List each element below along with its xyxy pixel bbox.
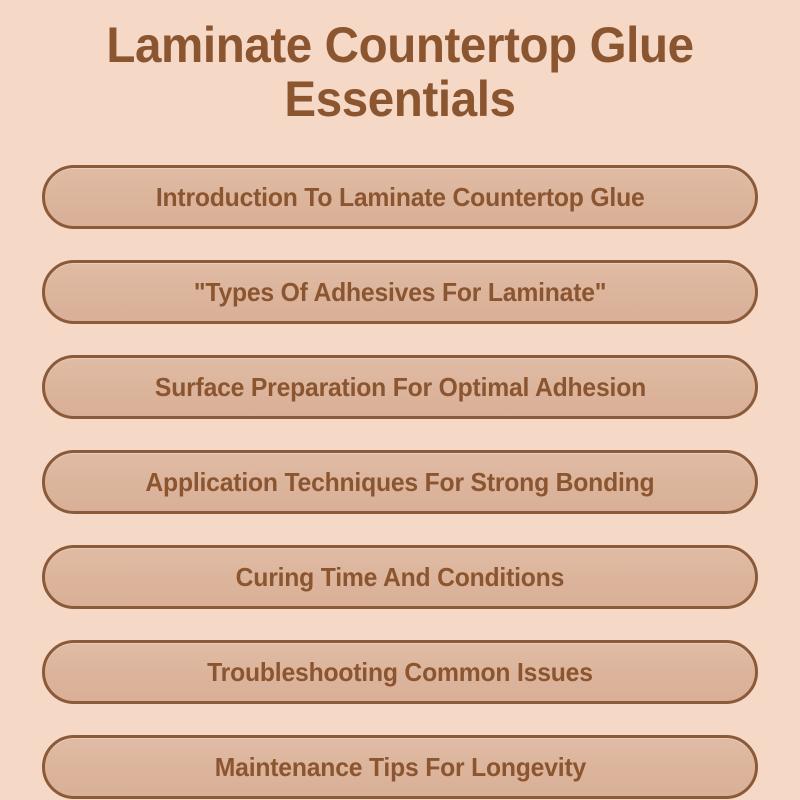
- section-pill-label: Curing Time And Conditions: [236, 564, 564, 590]
- section-pill-label: Surface Preparation For Optimal Adhesion: [154, 374, 645, 400]
- page-title: Laminate Countertop Glue Essentials: [0, 18, 800, 126]
- page-title-line-1: Laminate Countertop Glue: [20, 18, 780, 72]
- section-pill-types-of-adhesives[interactable]: "Types Of Adhesives For Laminate": [42, 260, 758, 324]
- section-list: Introduction To Laminate Countertop Glue…: [42, 165, 758, 799]
- infographic-root: Laminate Countertop Glue Essentials Intr…: [0, 0, 800, 800]
- section-pill-curing-time[interactable]: Curing Time And Conditions: [42, 545, 758, 609]
- section-pill-troubleshooting[interactable]: Troubleshooting Common Issues: [42, 640, 758, 704]
- section-pill-label: Application Techniques For Strong Bondin…: [145, 469, 654, 495]
- section-pill-label: Maintenance Tips For Longevity: [214, 754, 585, 780]
- section-pill-introduction[interactable]: Introduction To Laminate Countertop Glue: [42, 165, 758, 229]
- section-pill-surface-preparation[interactable]: Surface Preparation For Optimal Adhesion: [42, 355, 758, 419]
- section-pill-label: "Types Of Adhesives For Laminate": [194, 279, 606, 305]
- page-title-line-2: Essentials: [20, 72, 780, 126]
- section-pill-application-techniques[interactable]: Application Techniques For Strong Bondin…: [42, 450, 758, 514]
- section-pill-maintenance-tips[interactable]: Maintenance Tips For Longevity: [42, 735, 758, 799]
- section-pill-label: Introduction To Laminate Countertop Glue: [156, 184, 645, 210]
- section-pill-label: Troubleshooting Common Issues: [207, 659, 593, 685]
